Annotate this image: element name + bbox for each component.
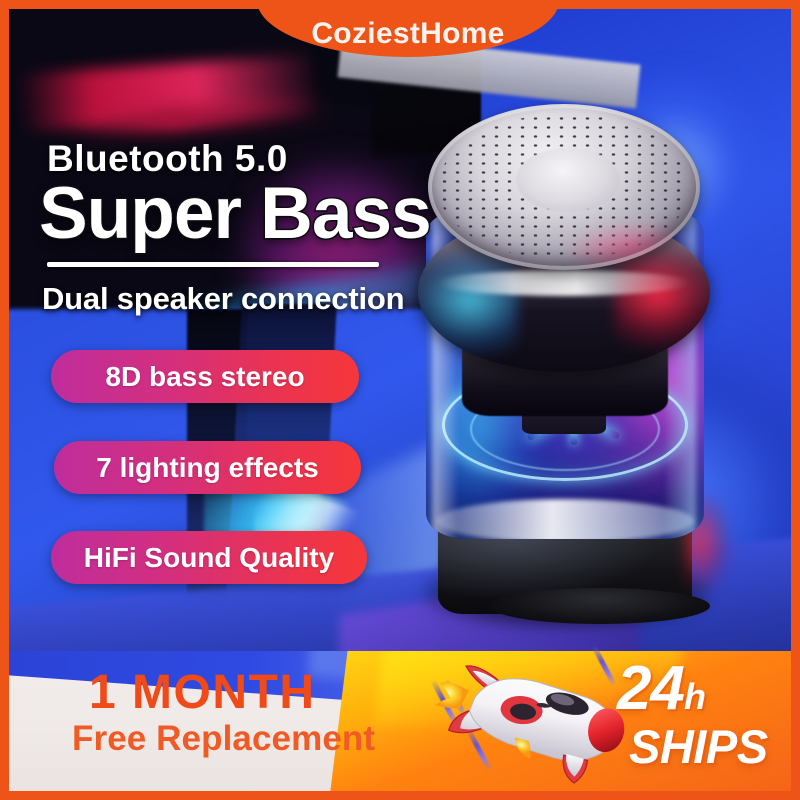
feature-pill-label: 7 lighting effects bbox=[96, 452, 318, 484]
shipping-label: SHIPS bbox=[629, 719, 768, 774]
speaker-grille-edge bbox=[428, 104, 700, 270]
feature-pill: 7 lighting effects bbox=[54, 441, 361, 494]
feature-pill: 8D bass stereo bbox=[51, 350, 359, 403]
headline-divider bbox=[47, 262, 379, 267]
rocket-flame bbox=[431, 678, 469, 715]
bottom-promo-bar: 1 MONTH Free Replacement 24h SHIPS bbox=[9, 651, 791, 791]
headline-subtitle: Dual speaker connection bbox=[42, 281, 404, 317]
speaker-base-bottom bbox=[490, 588, 710, 624]
feature-pill-label: 8D bass stereo bbox=[105, 361, 304, 393]
rocket-icon bbox=[429, 639, 639, 789]
feature-pill: HiFi Sound Quality bbox=[51, 531, 367, 584]
brand-name: CoziestHome bbox=[311, 17, 504, 51]
speaker-base-light-ring bbox=[436, 499, 694, 539]
speaker-mesh-grille bbox=[428, 104, 700, 270]
feature-pill-label: HiFi Sound Quality bbox=[84, 542, 334, 574]
speaker-product-image bbox=[404, 104, 724, 644]
product-advertisement: Bluetooth 5.0 Super Bass Dual speaker co… bbox=[0, 0, 800, 800]
speaker-rim-gloss bbox=[438, 270, 690, 296]
headline-title: Super Bass bbox=[39, 177, 431, 250]
speaker-rim-cyan-reflection bbox=[418, 246, 518, 356]
warranty-detail: Free Replacement bbox=[72, 719, 375, 759]
warranty-duration: 1 MONTH bbox=[89, 665, 316, 720]
shipping-unit: h bbox=[684, 676, 705, 717]
